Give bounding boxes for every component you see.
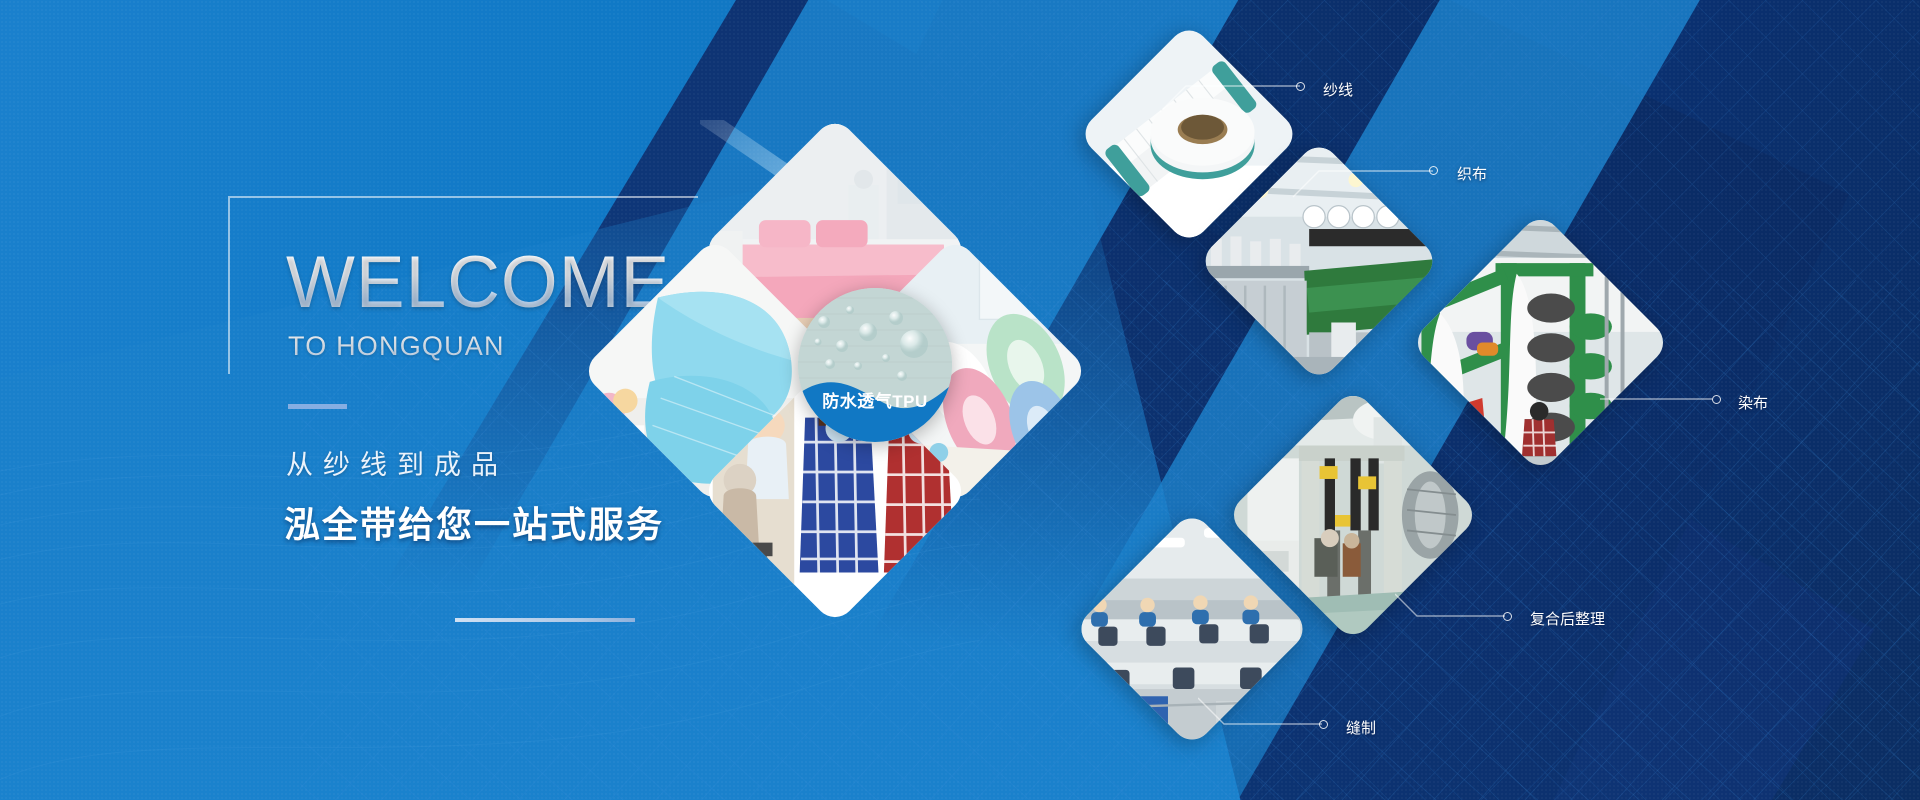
accent-rule bbox=[288, 404, 347, 409]
hero-tagline: 从纱线到成品 bbox=[286, 443, 508, 482]
process-label-yarn: 纱线 bbox=[1323, 79, 1353, 100]
hero-banner: WELCOME TO HONGQUAN 从纱线到成品 泓全带给您一站式服务 bbox=[0, 0, 1920, 800]
page-subtitle: TO HONGQUAN bbox=[288, 331, 505, 362]
tpu-badge-label: 防水透气TPU bbox=[798, 387, 952, 412]
process-label-dyeing: 染布 bbox=[1738, 392, 1768, 413]
bottom-divider-rule bbox=[455, 618, 635, 622]
leader-node-sewing bbox=[1319, 720, 1328, 729]
leader-node-weaving bbox=[1429, 166, 1438, 175]
hero-headline: 泓全带给您一站式服务 bbox=[284, 496, 664, 548]
tpu-badge[interactable]: 防水透气TPU bbox=[798, 288, 952, 442]
leader-node-dyeing bbox=[1712, 395, 1721, 404]
process-label-sewing: 缝制 bbox=[1346, 717, 1376, 738]
leader-node-laminating bbox=[1503, 612, 1512, 621]
process-label-laminating: 复合后整理 bbox=[1530, 608, 1605, 629]
page-title: WELCOME bbox=[286, 246, 670, 319]
leader-node-yarn bbox=[1296, 82, 1305, 91]
process-label-weaving: 织布 bbox=[1457, 163, 1487, 184]
